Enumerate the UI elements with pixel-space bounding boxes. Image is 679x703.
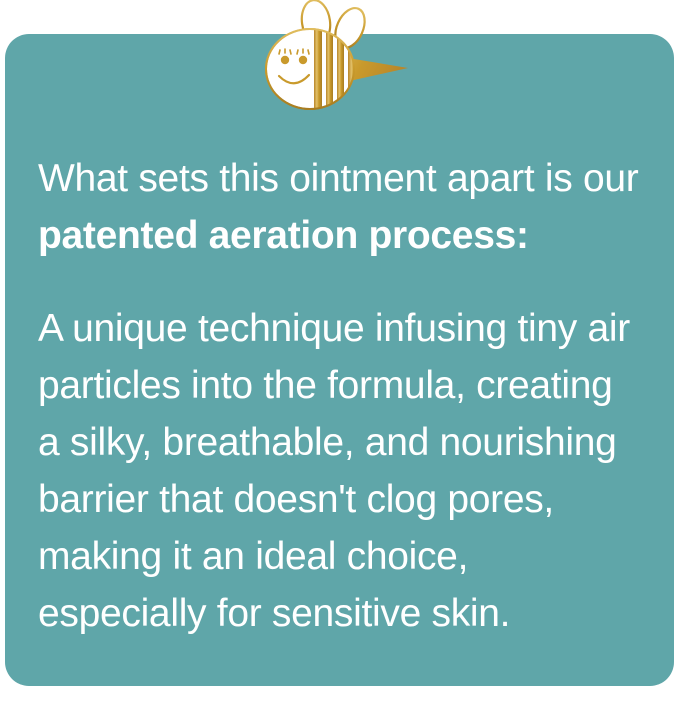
promo-image-canvas: What sets this ointment apart is our pat… <box>0 0 679 703</box>
promo-text-block: What sets this ointment apart is our pat… <box>38 150 652 642</box>
body-line-1: A unique technique infusing tiny air <box>38 300 652 357</box>
paragraph-spacer <box>38 264 652 300</box>
headline-line-2: patented aeration process: <box>38 207 652 264</box>
headline-line-1: What sets this ointment apart is our <box>38 150 652 207</box>
body-line-2: particles into the formula, creating <box>38 357 652 414</box>
body-line-3: a silky, breathable, and nourishing <box>38 414 652 471</box>
body-line-6: especially for sensitive skin. <box>38 585 652 642</box>
body-line-5: making it an ideal choice, <box>38 528 652 585</box>
body-line-4: barrier that doesn't clog pores, <box>38 471 652 528</box>
